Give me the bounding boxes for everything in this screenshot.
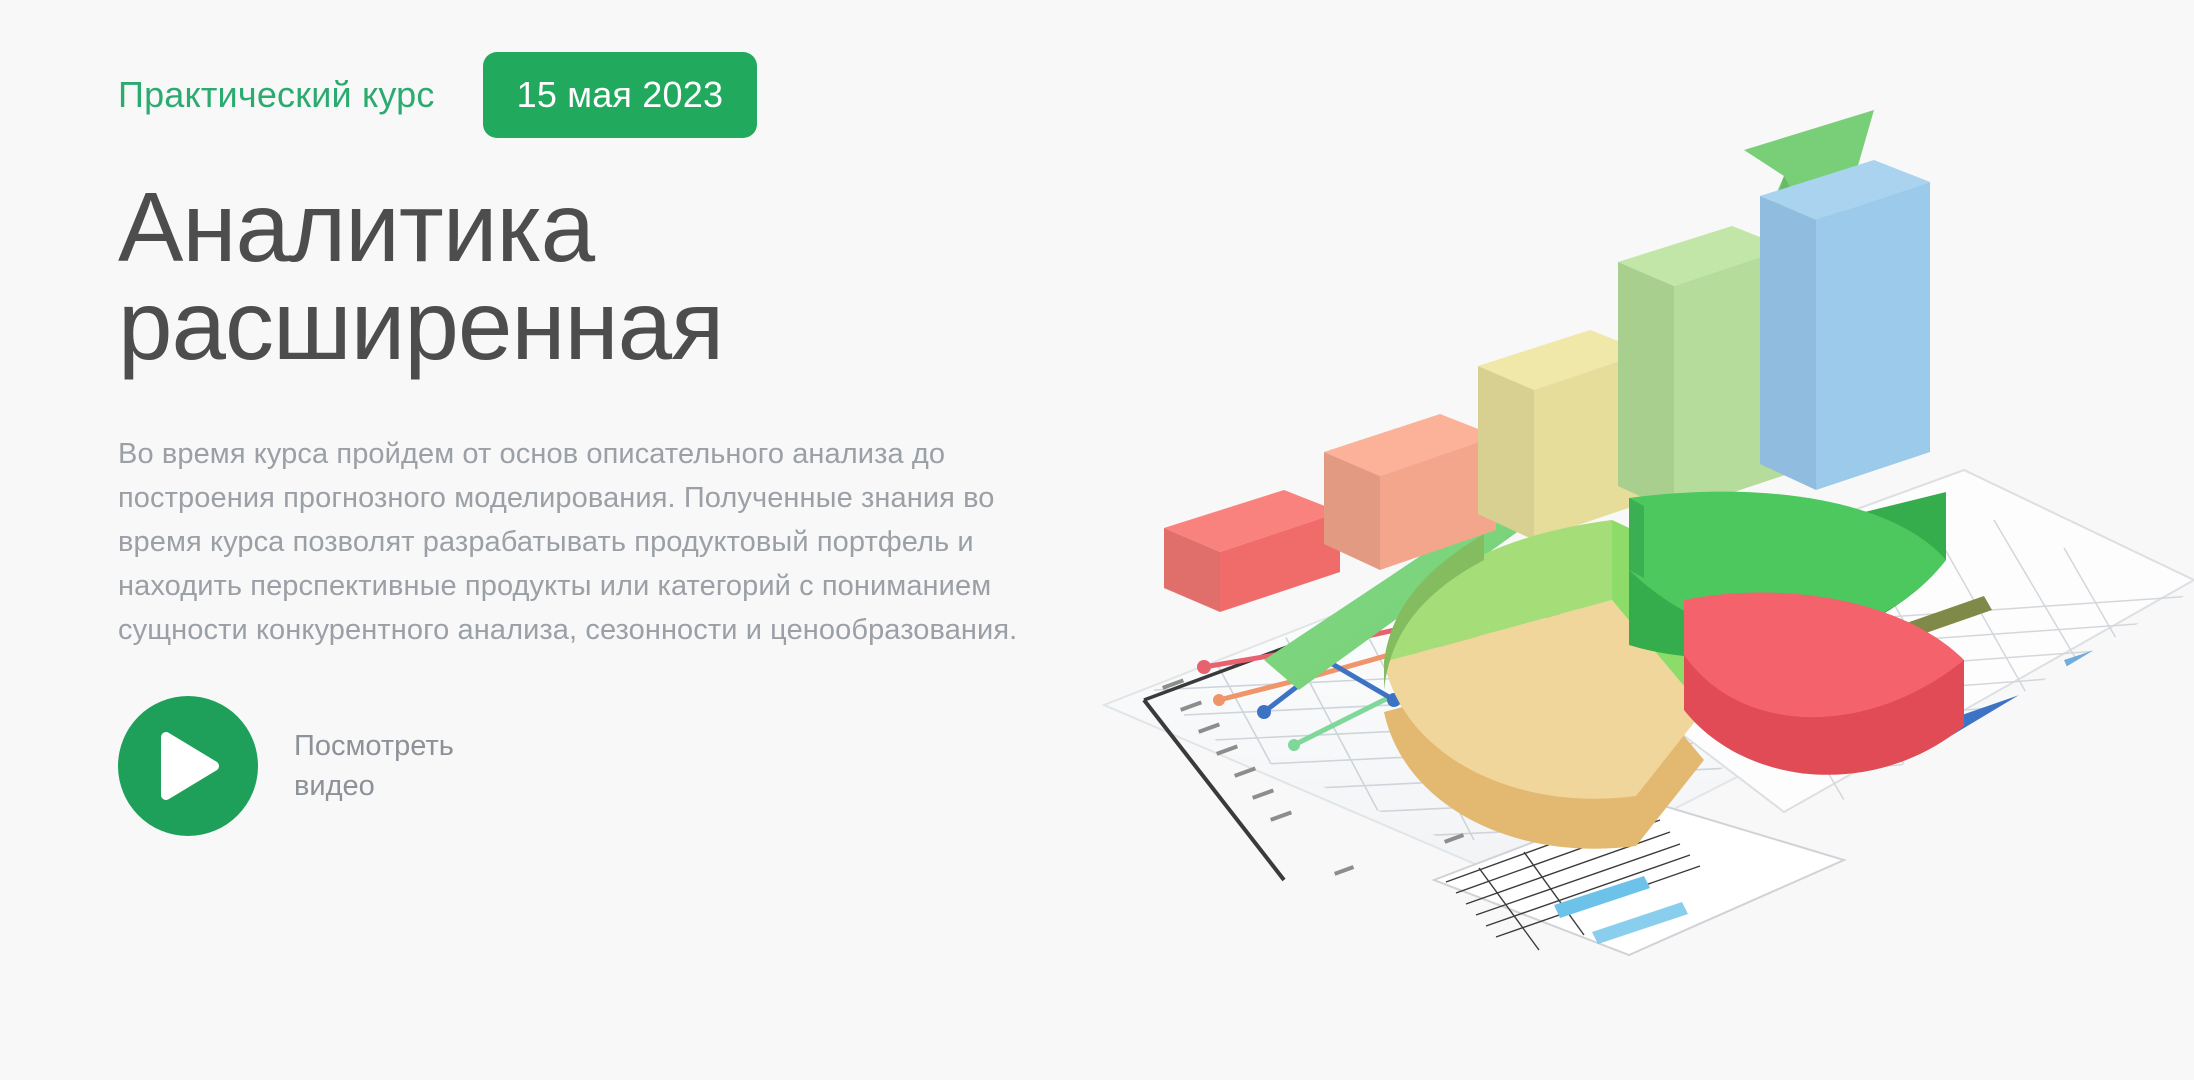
play-icon[interactable] — [118, 696, 258, 836]
eyebrow-row: Практический курс 15 мая 2023 — [118, 52, 1120, 138]
watch-video-label: Посмотреть видео — [294, 726, 454, 807]
bar-1 — [1164, 490, 1340, 612]
course-description: Во время курса пройдем от основ описател… — [118, 432, 1058, 652]
pie-chart-3d — [1384, 492, 1964, 849]
course-type-label: Практический курс — [118, 52, 435, 138]
bar-5 — [1760, 160, 1930, 490]
page-title-line-1: Аналитика — [118, 178, 1120, 276]
page-title: Аналитика расширенная — [118, 178, 1120, 374]
course-date-badge: 15 мая 2023 — [483, 52, 758, 138]
page-title-line-2: расширенная — [118, 276, 1120, 374]
hero-content: Практический курс 15 мая 2023 Аналитика … — [0, 0, 1120, 1080]
hero-section: Практический курс 15 мая 2023 Аналитика … — [0, 0, 2194, 1080]
watch-video-button[interactable]: Посмотреть видео — [118, 696, 578, 836]
3d-analytics-illustration — [1084, 0, 2194, 1080]
